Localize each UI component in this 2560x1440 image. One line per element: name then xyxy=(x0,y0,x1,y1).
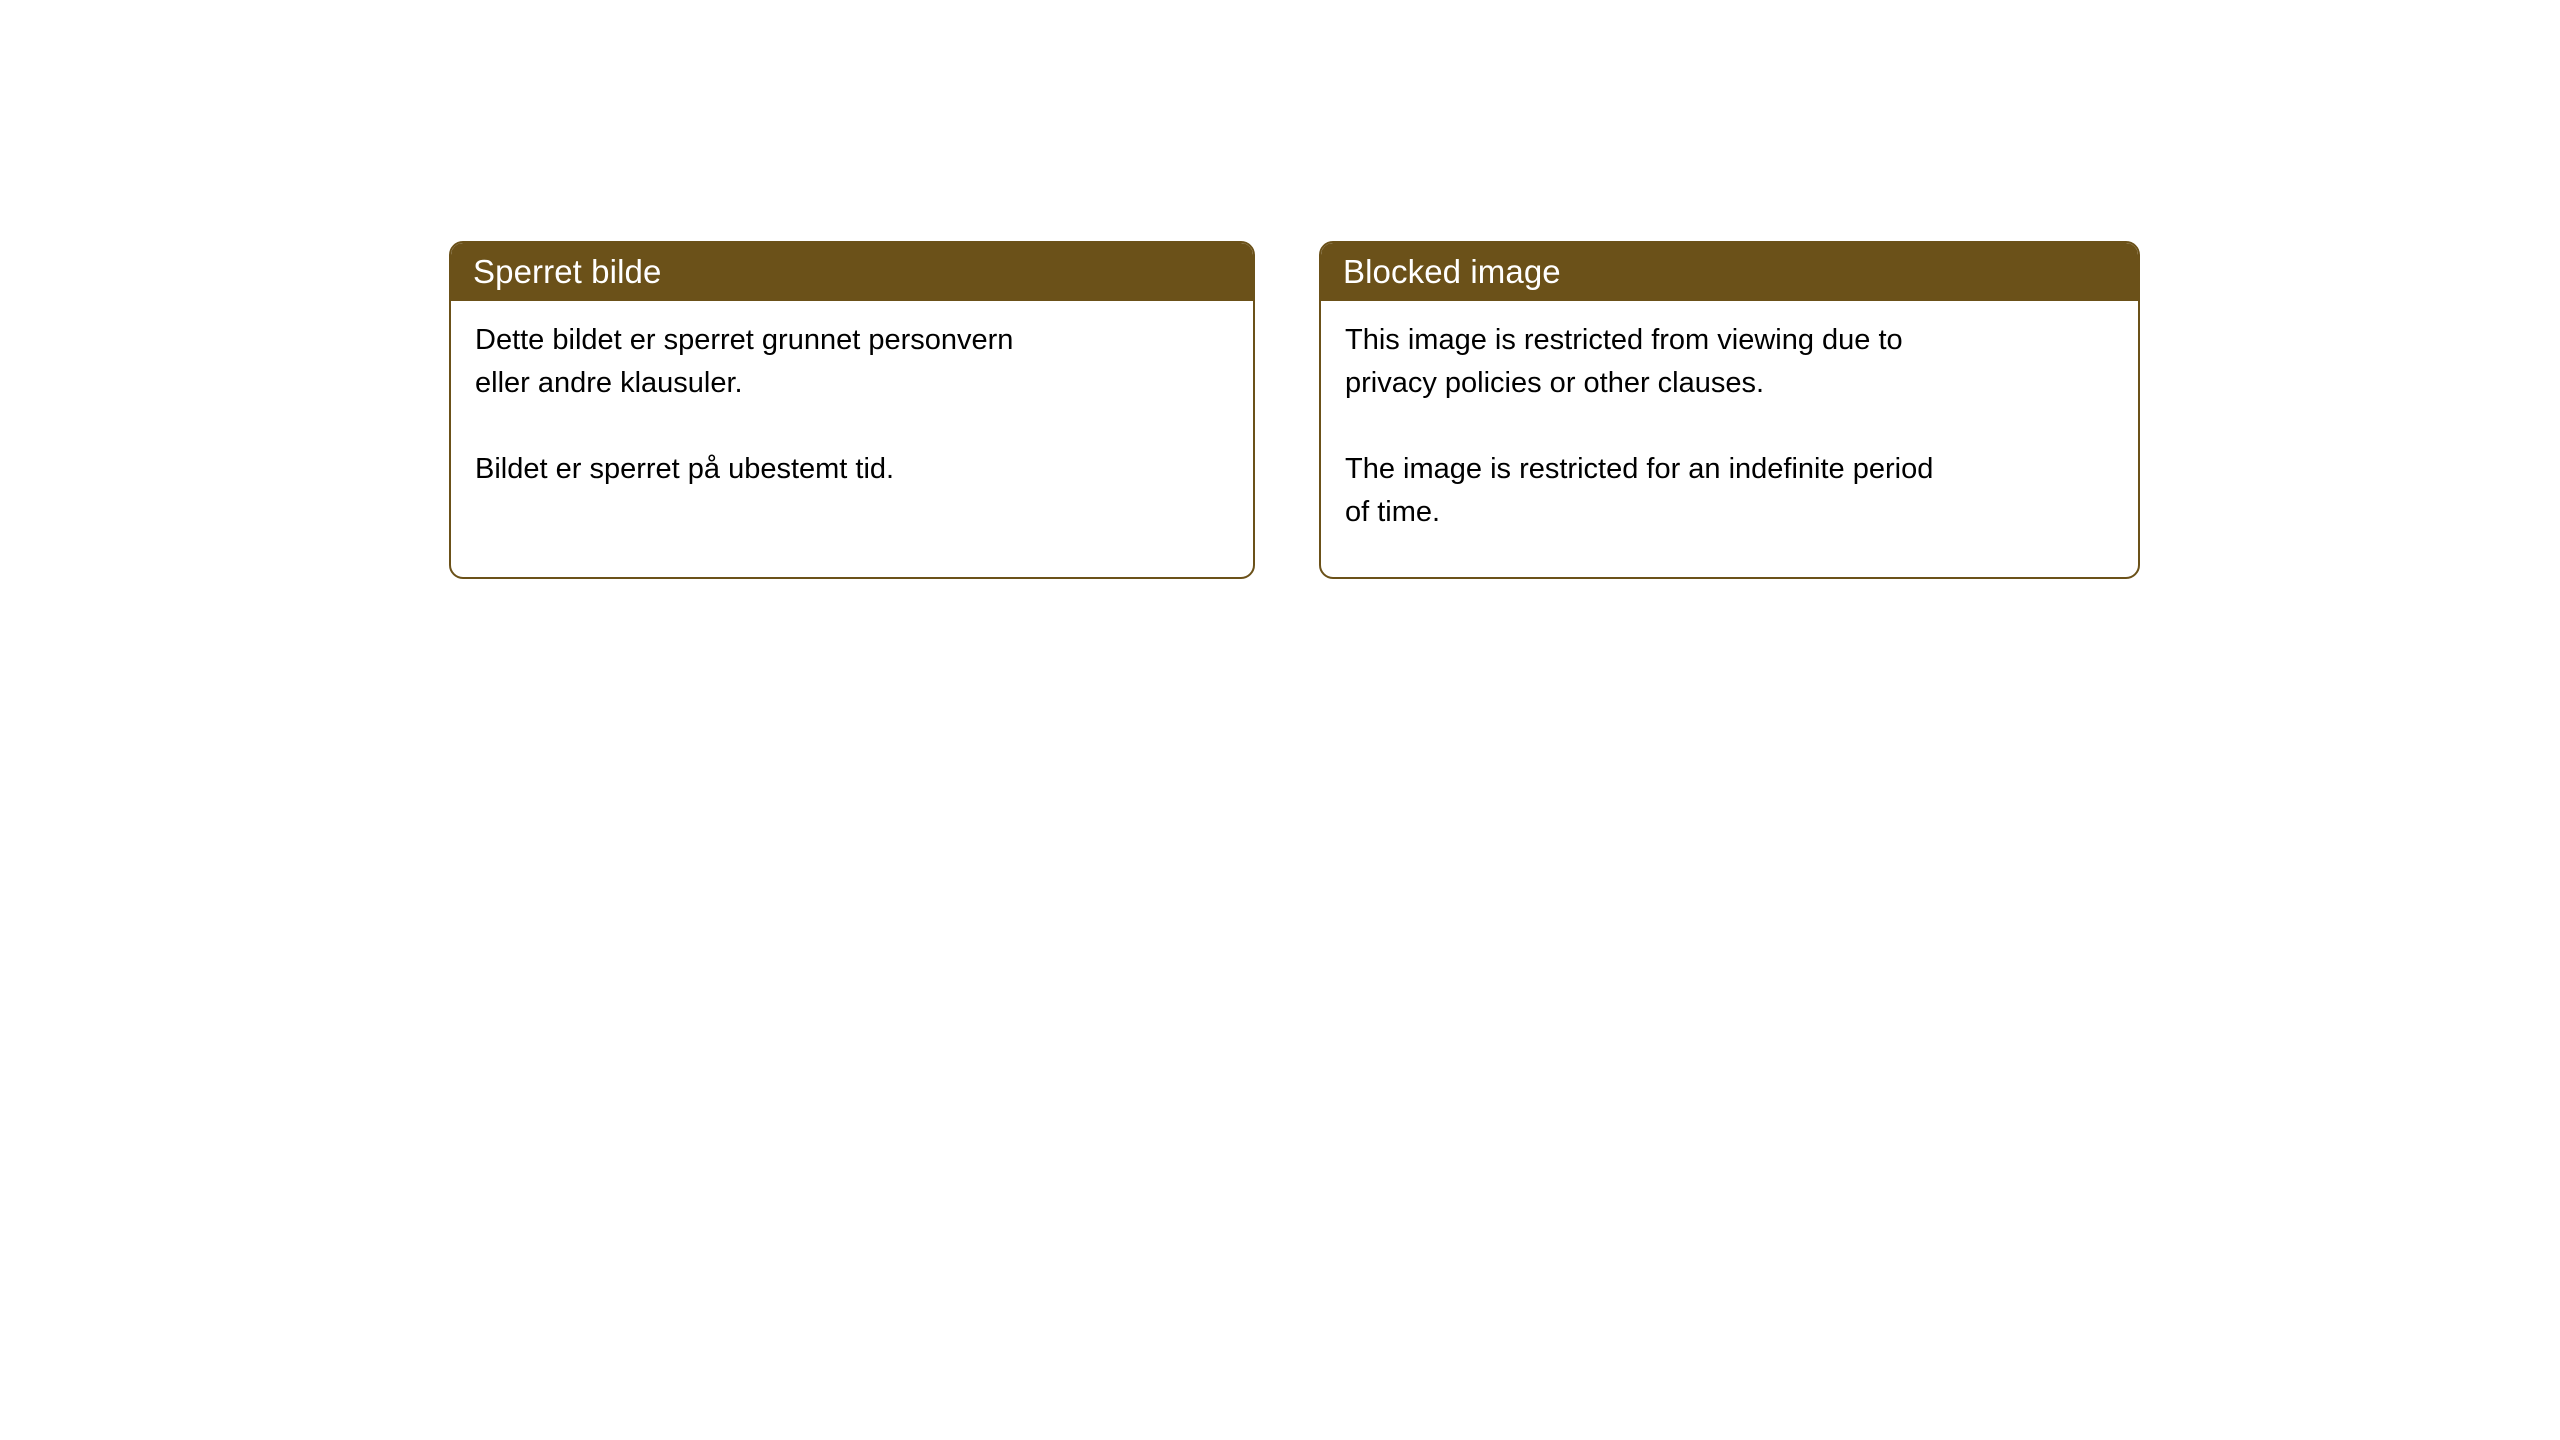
panel-title-no: Sperret bilde xyxy=(473,252,661,292)
blocked-image-notice-no: Sperret bilde Dette bildet er sperret gr… xyxy=(449,241,1255,579)
blocked-image-notice-en: Blocked image This image is restricted f… xyxy=(1319,241,2140,579)
panel-header-en: Blocked image xyxy=(1321,243,2138,301)
panel-paragraph-reason-no: Dette bildet er sperret grunnet personve… xyxy=(475,319,1233,405)
page-canvas: Sperret bilde Dette bildet er sperret gr… xyxy=(0,0,2560,1440)
panel-title-en: Blocked image xyxy=(1343,252,1561,292)
panel-body-no: Dette bildet er sperret grunnet personve… xyxy=(451,301,1253,511)
panel-body-en: This image is restricted from viewing du… xyxy=(1321,301,2138,554)
panel-paragraph-reason-en: This image is restricted from viewing du… xyxy=(1345,319,2118,405)
panel-paragraph-duration-en: The image is restricted for an indefinit… xyxy=(1345,448,2118,534)
panel-header-no: Sperret bilde xyxy=(451,243,1253,301)
panel-paragraph-duration-no: Bildet er sperret på ubestemt tid. xyxy=(475,448,1233,491)
